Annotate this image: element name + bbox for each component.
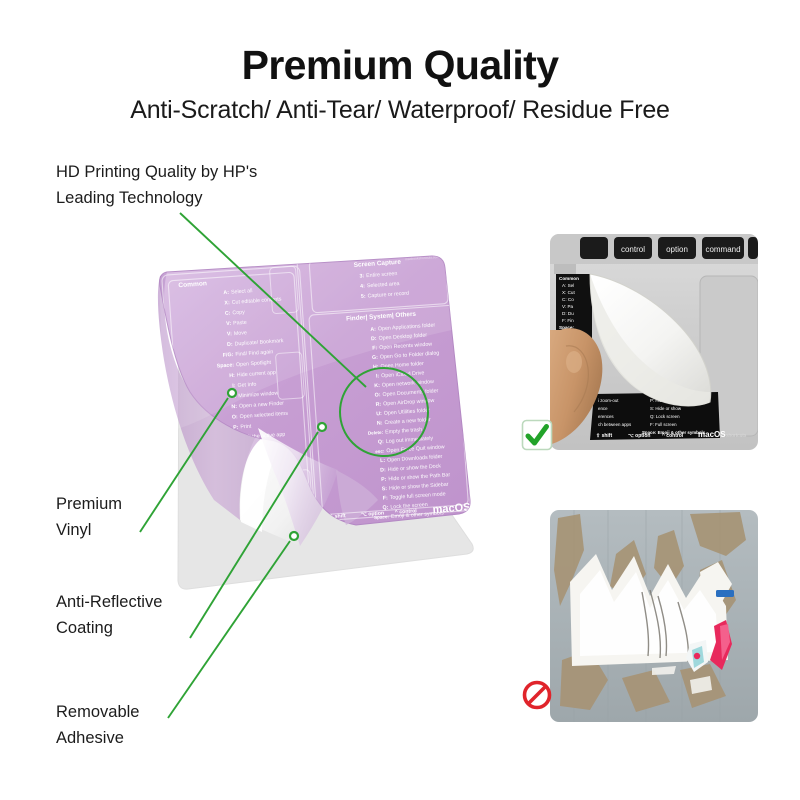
key-label-command: command: [705, 245, 740, 254]
sticker-key: F:: [383, 495, 389, 501]
callout-label-hd-printing: HD Printing Quality by HP's Leading Tech…: [56, 160, 257, 211]
sticker-brand-photo: macOS: [698, 430, 726, 439]
svg-text:ence: ence: [598, 406, 608, 411]
sticker-key: esc:: [375, 448, 385, 454]
svg-text:F: Full screen: F: Full screen: [650, 422, 677, 427]
sticker-key: L:: [380, 458, 386, 464]
svg-text:S: Hide or show: S: Hide or show: [650, 406, 682, 411]
sticker-key: N:: [377, 420, 383, 426]
check-mark-icon: [521, 419, 553, 451]
svg-text:D: Du: D: Du: [562, 311, 574, 316]
svg-text:C: Co: C: Co: [562, 297, 574, 302]
svg-text:i zoom-out: i zoom-out: [598, 398, 619, 403]
svg-text:F: Fin: F: Fin: [562, 318, 574, 323]
callout-label-anti-reflective: Anti-Reflective Coating: [56, 590, 162, 641]
svg-text:^ control: ^ control: [662, 433, 684, 439]
svg-text:Q: Lock screen: Q: Lock screen: [650, 414, 680, 419]
sticker-key: S:: [382, 486, 388, 492]
svg-text:V: Pa: V: Pa: [562, 304, 574, 309]
sticker-key: P:: [381, 477, 387, 483]
sticker-key: I:: [376, 373, 380, 379]
svg-text:shortcuts: shortcuts: [726, 433, 747, 439]
prohibited-icon: [521, 679, 553, 711]
svg-text:erences: erences: [598, 414, 614, 419]
callout-label-removable-adhesive: Removable Adhesive: [56, 700, 139, 751]
sticker-brand-suffix: shortcuts: [465, 505, 486, 512]
photo-paper-residue: [550, 510, 758, 722]
sticker-key: H:: [373, 364, 379, 370]
sticker-desc: Print: [240, 424, 252, 431]
photo-clean-peel: control option command Common A: Sel X: …: [550, 234, 758, 450]
sticker-key: U:: [376, 411, 382, 417]
svg-text:Common: Common: [559, 276, 579, 281]
poster-scrap-blue: [716, 590, 734, 597]
svg-text:A: Sel: A: Sel: [562, 283, 574, 288]
svg-text:⇧ shift: ⇧ shift: [596, 433, 612, 439]
svg-text:X: Cut: X: Cut: [562, 290, 575, 295]
callout-label-premium-vinyl: Premium Vinyl: [56, 492, 122, 543]
svg-text:ch between apps: ch between apps: [598, 422, 632, 427]
key-label-control: control: [621, 245, 645, 254]
key-label-option: option: [666, 245, 688, 254]
sticker-key: O:: [374, 392, 381, 398]
sticker-key: G:: [372, 355, 379, 361]
infographic-canvas: Premium Quality Anti-Scratch/ Anti-Tear/…: [0, 0, 800, 800]
sticker-key: K:: [374, 383, 380, 389]
sticker-key: D:: [380, 467, 386, 473]
sticker-key: Q:: [378, 439, 385, 445]
sticker-key: R:: [375, 402, 381, 408]
svg-text:⌥ option: ⌥ option: [628, 433, 650, 439]
sticker-key: N:: [231, 404, 237, 410]
sticker-key: O:: [232, 414, 239, 420]
